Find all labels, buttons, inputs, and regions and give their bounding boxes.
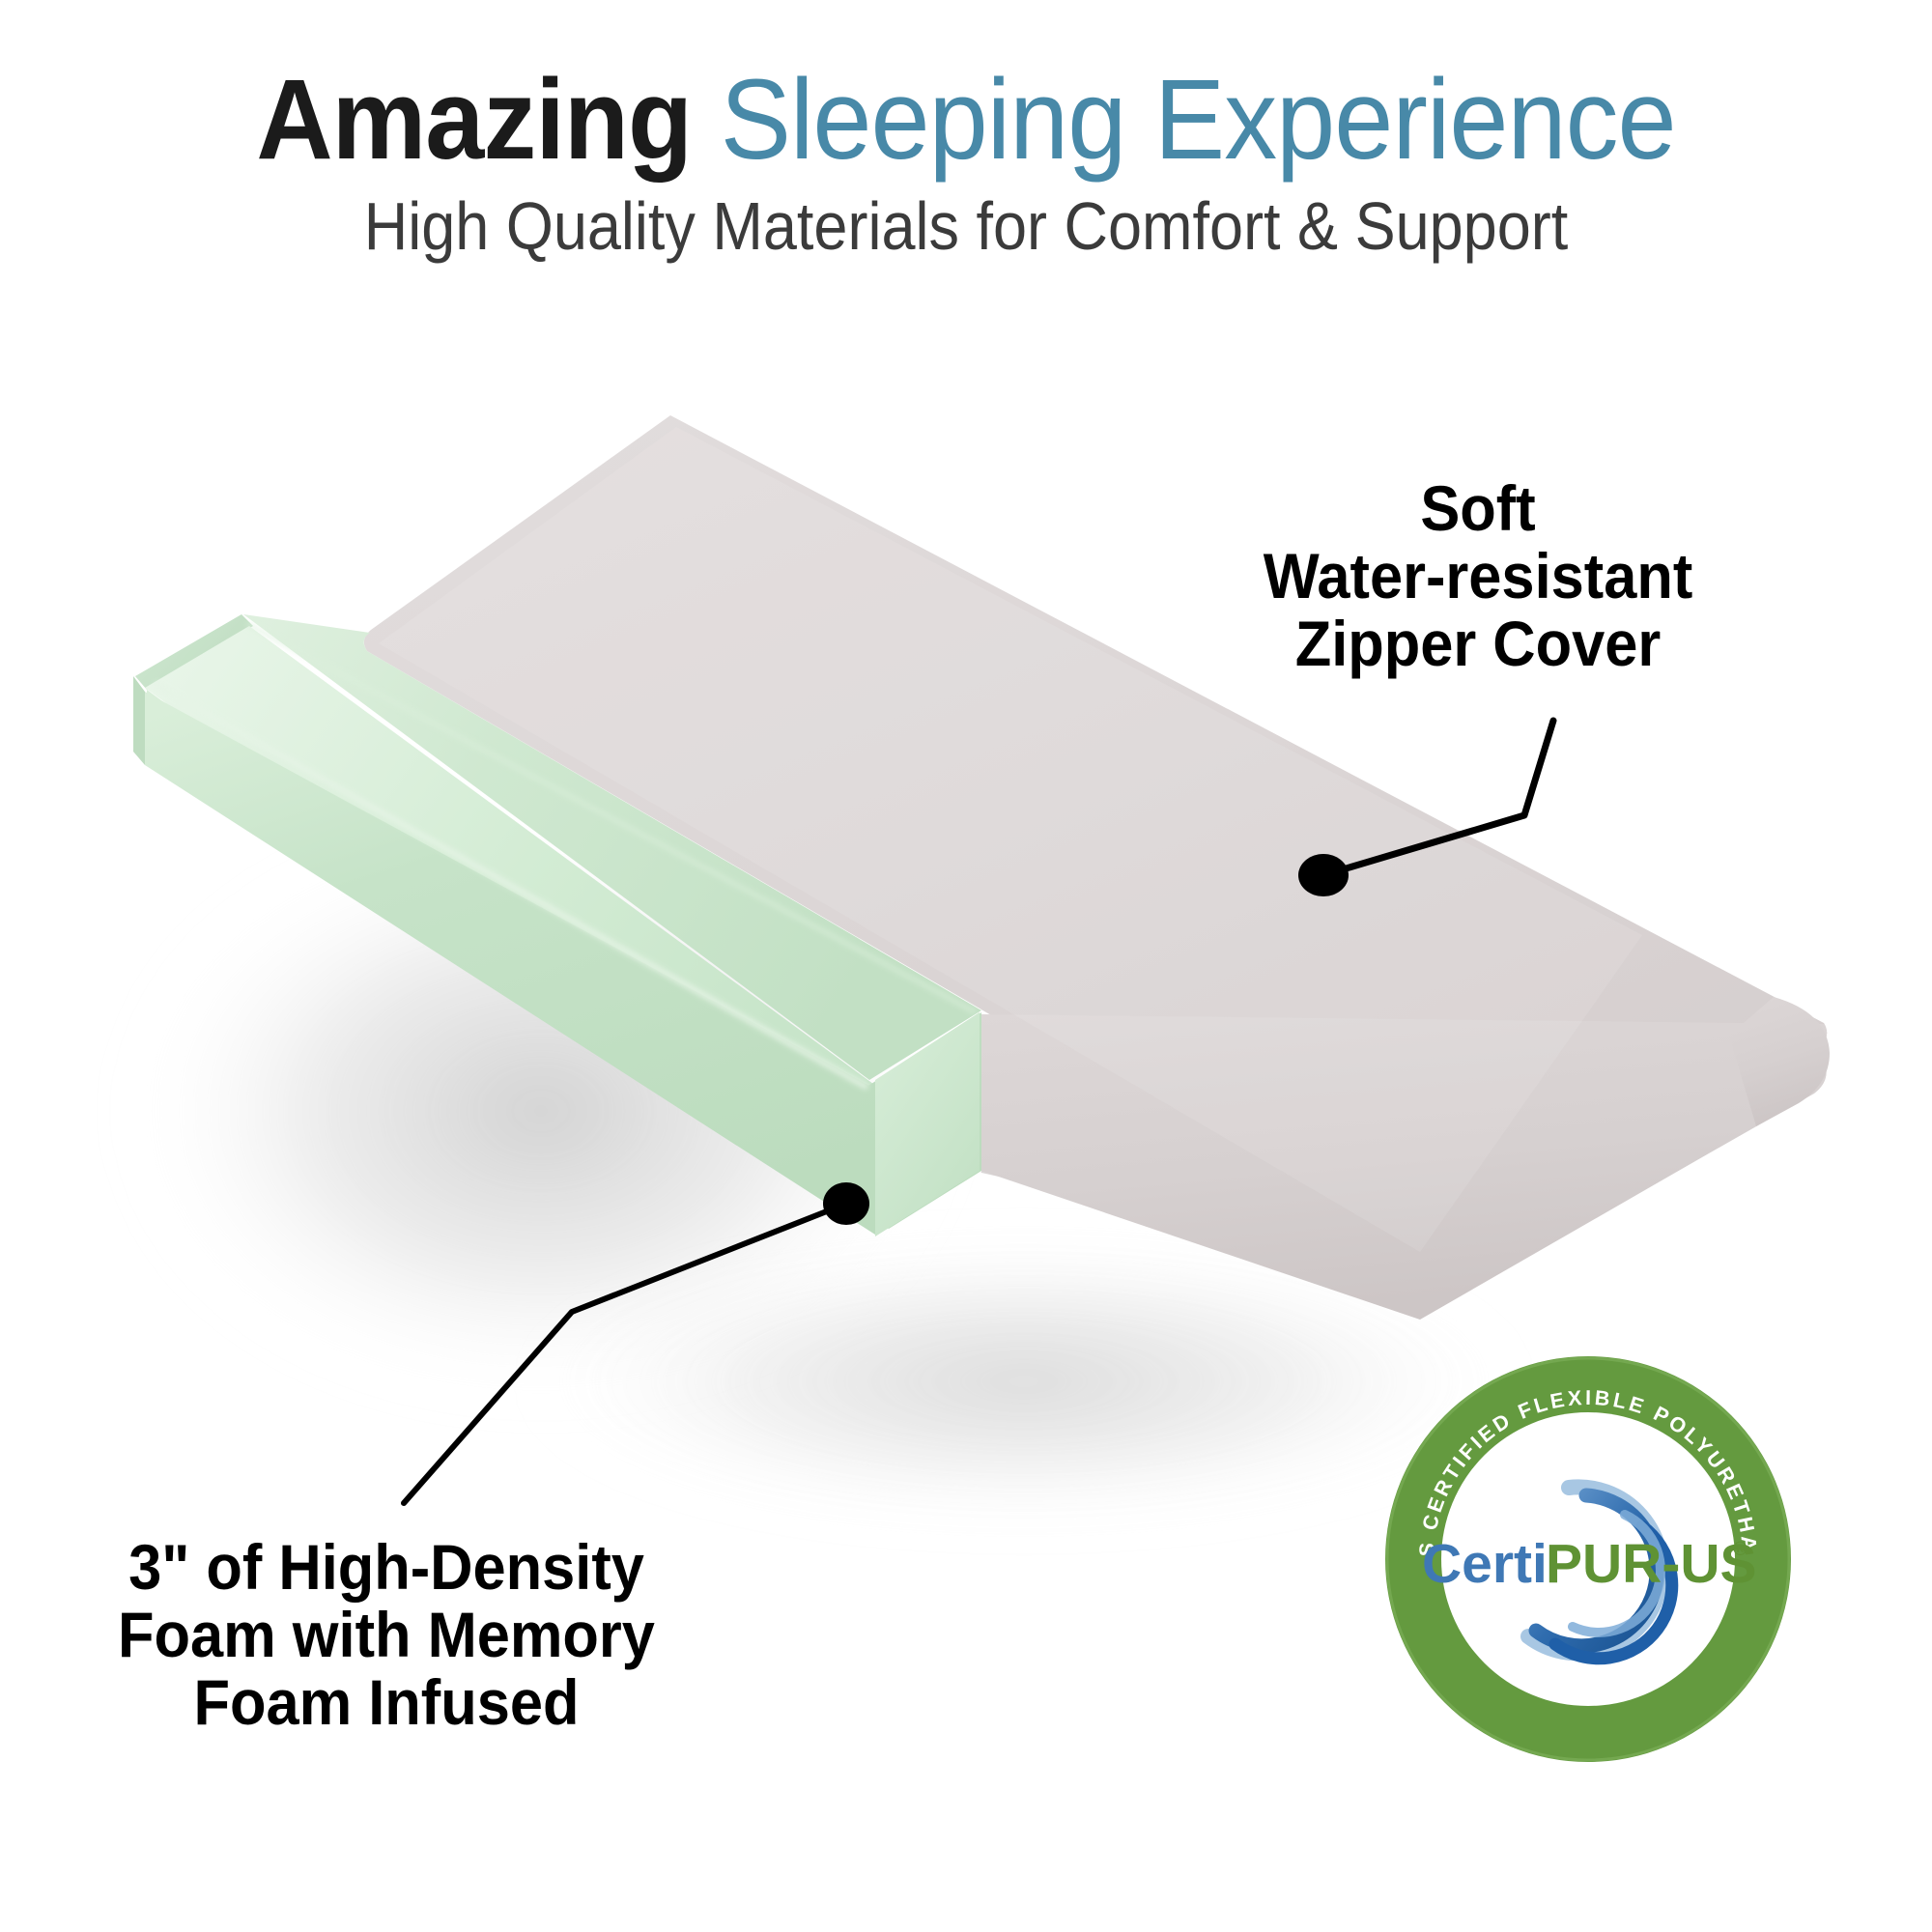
product-infographic: Amazing Sleeping Experience High Quality… (0, 0, 1932, 1932)
badge-word-purus: PUR-US (1546, 1533, 1757, 1595)
leader-dot-foam (823, 1182, 869, 1225)
cover-front-face (1420, 1023, 1827, 1318)
callout-foam-line3: Foam Infused (45, 1669, 728, 1737)
page-title: Amazing Sleeping Experience (68, 62, 1864, 178)
foam-crease-line (155, 684, 867, 1088)
cover-front-big (981, 1014, 1827, 1320)
foam-thickness-band (145, 692, 980, 1235)
foam-bevel-highlight (145, 626, 873, 1146)
foam-back-sliver (135, 614, 253, 690)
callout-high-density-foam: 3" of High-Density Foam with Memory Foam… (45, 1534, 728, 1737)
callout-leader-cover (1298, 721, 1553, 896)
badge-wordmark: Certi PUR-US ® (1422, 1533, 1757, 1595)
foam-left-cap (133, 676, 145, 765)
badge-registered-mark: ® (1733, 1539, 1747, 1560)
mattress-shadow (126, 821, 1526, 1526)
callout-cover-line3: Zipper Cover (1083, 611, 1873, 678)
badge-word-certi: Certi (1422, 1533, 1548, 1595)
foam-crease-line-2 (247, 624, 976, 1012)
title-bold-word: Amazing (256, 56, 692, 184)
callout-leader-foam (404, 1182, 869, 1503)
leader-dot-cover (1298, 854, 1349, 896)
cover-seam-line (981, 1049, 1822, 1269)
foam-front-face (147, 690, 981, 1229)
page-subtitle: High Quality Materials for Comfort & Sup… (97, 191, 1835, 263)
foam-top-strip (243, 614, 981, 1080)
callout-foam-line1: 3" of High-Density (45, 1534, 728, 1602)
certipur-us-badge: CONTAINS CERTIFIED FLEXIBLE POLYURETHANE… (1383, 1354, 1793, 1764)
title-accent-words: Sleeping Experience (692, 56, 1676, 184)
header-block: Amazing Sleeping Experience High Quality… (0, 62, 1932, 263)
callout-zipper-cover: Soft Water-resistant Zipper Cover (1083, 475, 1873, 678)
callout-cover-line1: Soft (1083, 475, 1873, 543)
foam-end-cap (875, 1012, 980, 1236)
callout-foam-line2: Foam with Memory (45, 1602, 728, 1669)
leader-line-cover (1323, 721, 1553, 875)
callout-cover-line2: Water-resistant (1083, 543, 1873, 611)
leader-line-foam (404, 1204, 846, 1503)
cover-right-corner (1729, 997, 1830, 1126)
